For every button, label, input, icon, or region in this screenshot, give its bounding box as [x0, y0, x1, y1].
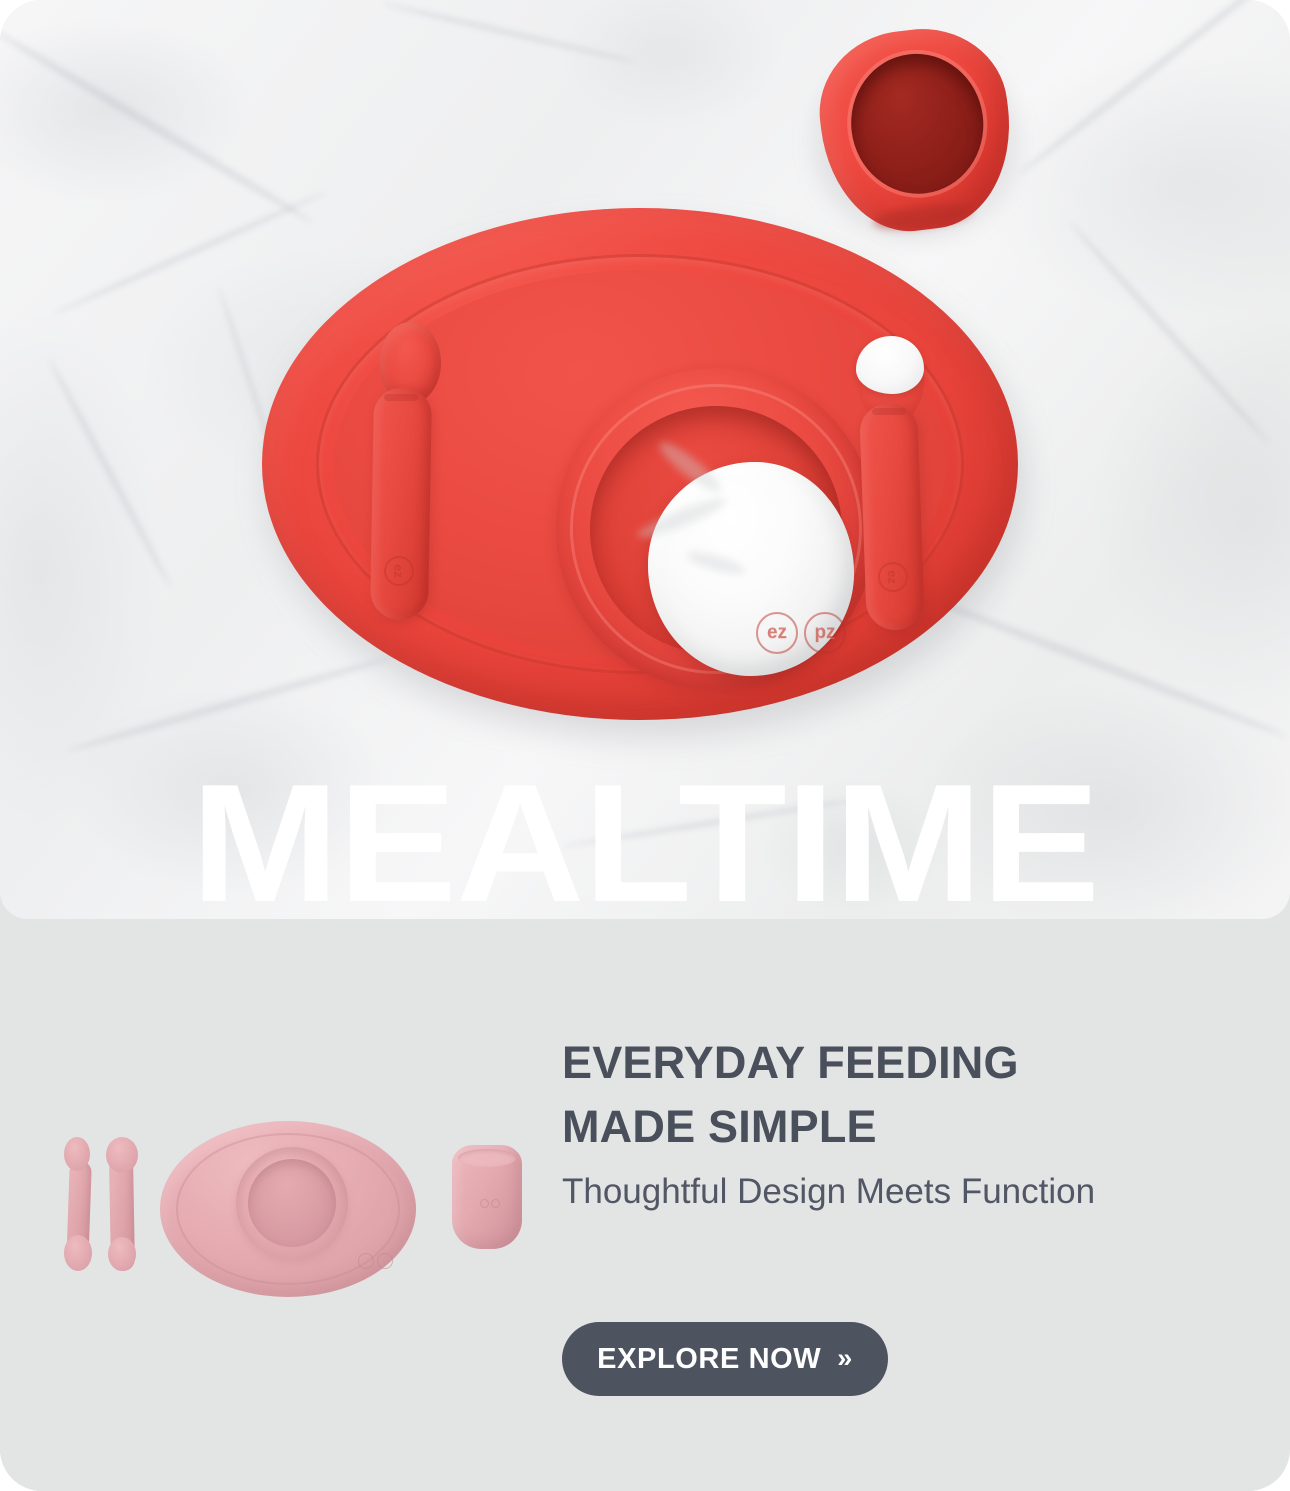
right-spoon-notch	[872, 408, 906, 415]
brand-emboss-pz: pz	[804, 612, 846, 654]
promo-copy: EVERYDAY FEEDING MADE SIMPLE Thoughtful …	[562, 1031, 1182, 1214]
cup-rim	[839, 42, 996, 206]
right-spoon-emboss: ez	[878, 562, 908, 592]
headline-line-1: EVERYDAY FEEDING	[562, 1031, 1182, 1095]
hero-banner[interactable]: ez pz ez ez MEALTIME	[0, 0, 1290, 919]
left-spoon-emboss: ez	[384, 556, 414, 586]
product-emboss-dot	[358, 1253, 374, 1269]
right-spoon-handle	[859, 403, 925, 631]
product-placemat-bowl	[236, 1147, 348, 1259]
brand-emboss-ez: ez	[756, 612, 798, 654]
product-cup-emboss-dot	[491, 1199, 500, 1208]
product-spoon-2-bowl	[106, 1137, 138, 1173]
left-spoon-notch	[384, 394, 418, 401]
product-bowl-well	[248, 1159, 336, 1247]
product-spoon-1-bowl	[64, 1137, 90, 1171]
product-cup-rim	[458, 1149, 516, 1167]
product-placemat	[160, 1121, 416, 1297]
product-cup-emboss-dot	[480, 1199, 489, 1208]
yogurt-on-spoon	[856, 336, 924, 394]
subheadline: Thoughtful Design Meets Function	[562, 1169, 1102, 1215]
product-cup	[452, 1145, 522, 1249]
product-spoon-1-tip	[64, 1235, 92, 1271]
promo-card: ez pz ez ez MEALTIME	[0, 0, 1290, 1491]
product-emboss-dot	[377, 1253, 393, 1269]
brand-emboss: ez pz	[756, 612, 846, 654]
product-spoon-2-tip	[108, 1237, 136, 1271]
headline-line-2: MADE SIMPLE	[562, 1095, 1182, 1159]
product-image-blush-set[interactable]	[40, 1109, 540, 1309]
double-chevron-right-icon: »	[837, 1345, 853, 1372]
product-cup-emboss	[480, 1199, 500, 1208]
explore-now-button[interactable]: EXPLORE NOW »	[562, 1322, 888, 1396]
product-brand-emboss	[358, 1253, 393, 1269]
explore-now-label: EXPLORE NOW	[597, 1343, 821, 1376]
promo-panel: EVERYDAY FEEDING MADE SIMPLE Thoughtful …	[0, 919, 1290, 1491]
hero-wordmark: MEALTIME	[0, 766, 1290, 919]
